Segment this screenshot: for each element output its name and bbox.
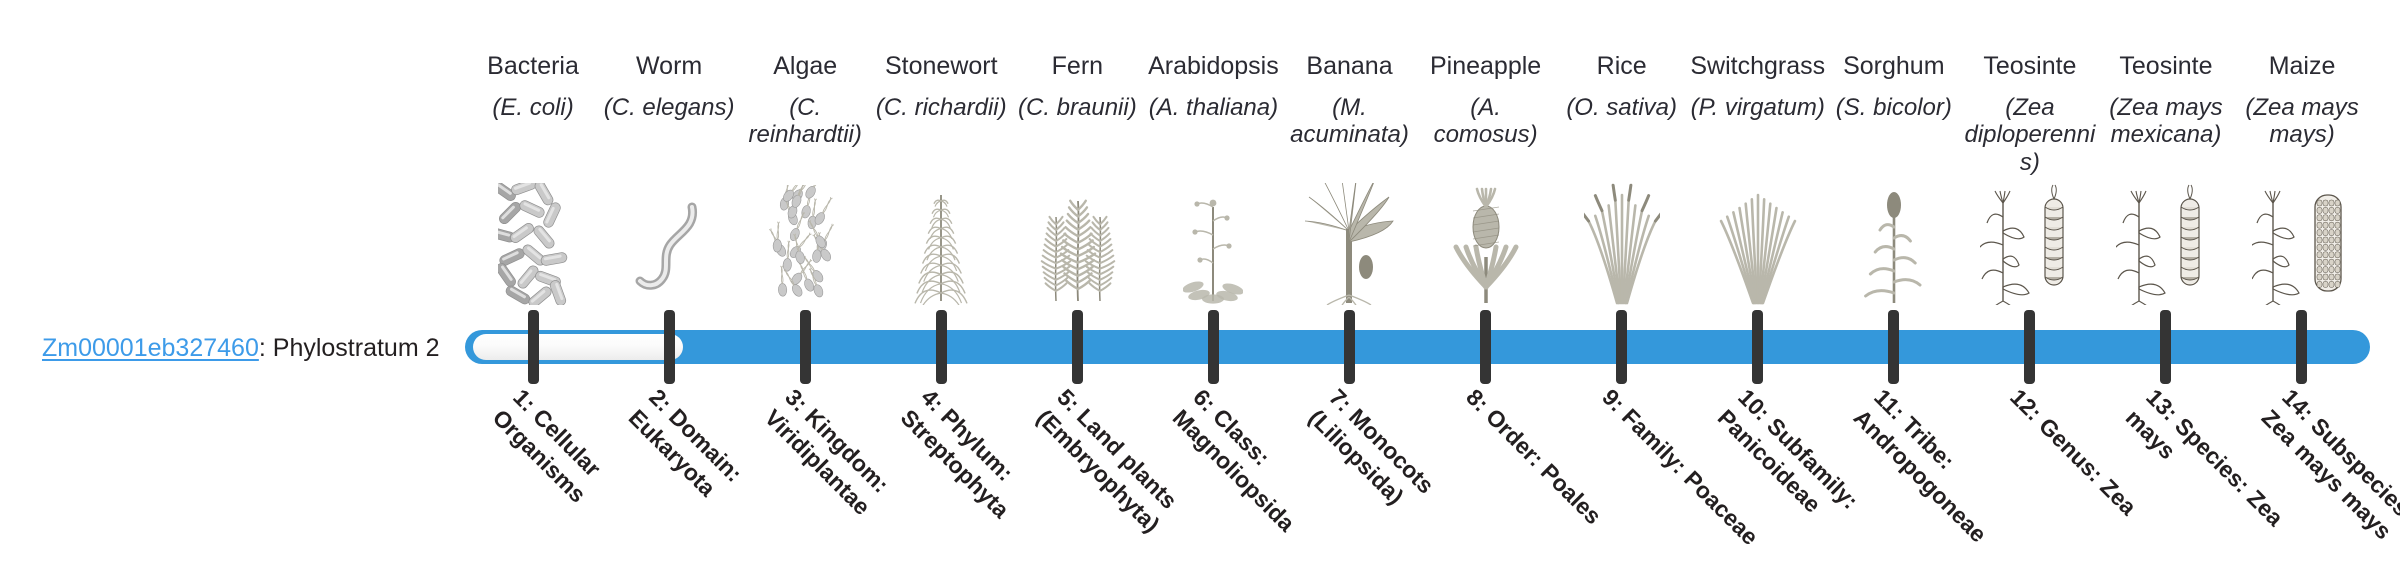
species-column: Fern(C. braunii) xyxy=(1009,52,1145,307)
species-common-name: Teosinte xyxy=(2119,52,2212,80)
gene-id-link[interactable]: Zm00001eb327460 xyxy=(42,334,259,362)
phylostratum-timeline[interactable] xyxy=(465,310,2370,382)
species-column: Switchgrass(P. virgatum) xyxy=(1690,52,1826,307)
phylostratum-tick[interactable] xyxy=(936,310,947,384)
stonewort-icon xyxy=(873,192,1009,307)
teosinte-plant-ear-icon xyxy=(2098,192,2234,307)
species-column: Teosinte(Zea diploperennis) xyxy=(1962,52,2098,307)
bacteria-rods-icon xyxy=(465,192,601,307)
species-column: Teosinte(Zea mays mexicana) xyxy=(2098,52,2234,307)
species-column: Rice(O. sativa) xyxy=(1554,52,1690,307)
species-scientific-name: (S. bicolor) xyxy=(1826,94,1962,121)
species-scientific-name: (C. elegans) xyxy=(601,94,737,121)
progress-fill xyxy=(473,334,683,360)
species-scientific-name: (Zea diploperennis) xyxy=(1962,94,2098,176)
phylostratum-value: Phylostratum 2 xyxy=(273,334,440,362)
switchgrass-icon xyxy=(1690,192,1826,307)
species-scientific-name: (O. sativa) xyxy=(1554,94,1690,121)
species-scientific-name: (P. virgatum) xyxy=(1690,94,1826,121)
teosinte-plant-ear-icon xyxy=(1962,192,2098,307)
species-common-name: Banana xyxy=(1306,52,1392,80)
phylostratum-tick[interactable] xyxy=(1344,310,1355,384)
species-column: Pineapple(A. comosus) xyxy=(1418,52,1554,307)
species-column: Arabidopsis(A. thaliana) xyxy=(1145,52,1281,307)
gene-phylostratum-label: Zm00001eb327460: Phylostratum 2 xyxy=(42,336,440,361)
phylostratum-tick[interactable] xyxy=(2296,310,2307,384)
phylostratum-timeline-figure: Zm00001eb327460: Phylostratum 2 Bacteria… xyxy=(0,0,2400,580)
rank-labels-row: 1: Cellular Organisms2: Domain: Eukaryot… xyxy=(465,384,2370,580)
species-column: Algae(C. reinhardtii) xyxy=(737,52,873,307)
phylostratum-tick[interactable] xyxy=(800,310,811,384)
species-common-name: Rice xyxy=(1597,52,1647,80)
species-scientific-name: (E. coli) xyxy=(465,94,601,121)
maize-plant-ear-icon xyxy=(2234,192,2370,307)
phylostratum-tick[interactable] xyxy=(2160,310,2171,384)
progress-track[interactable] xyxy=(465,330,2370,364)
banana-palm-icon xyxy=(1281,192,1417,307)
species-scientific-name: (M. acuminata) xyxy=(1281,94,1417,149)
phylostratum-tick[interactable] xyxy=(1072,310,1083,384)
algae-cells-icon xyxy=(737,192,873,307)
species-scientific-name: (Zea mays mexicana) xyxy=(2098,94,2234,149)
species-common-name: Stonewort xyxy=(885,52,998,80)
phylostratum-tick[interactable] xyxy=(1616,310,1627,384)
phylostratum-tick[interactable] xyxy=(1888,310,1899,384)
species-column: Maize(Zea mays mays) xyxy=(2234,52,2370,307)
phylostratum-tick[interactable] xyxy=(664,310,675,384)
rice-plant-icon xyxy=(1554,192,1690,307)
species-column: Banana(M. acuminata) xyxy=(1281,52,1417,307)
species-common-name: Worm xyxy=(636,52,702,80)
species-common-name: Teosinte xyxy=(1983,52,2076,80)
arabidopsis-icon xyxy=(1145,192,1281,307)
species-column: Sorghum(S. bicolor) xyxy=(1826,52,1962,307)
species-common-name: Maize xyxy=(2269,52,2336,80)
nematode-worm-icon xyxy=(601,192,737,307)
sorghum-icon xyxy=(1826,192,1962,307)
species-scientific-name: (A. comosus) xyxy=(1418,94,1554,149)
species-common-name: Bacteria xyxy=(487,52,579,80)
species-common-name: Fern xyxy=(1052,52,1103,80)
species-common-name: Arabidopsis xyxy=(1148,52,1279,80)
species-scientific-name: (A. thaliana) xyxy=(1145,94,1281,121)
phylostratum-tick[interactable] xyxy=(1208,310,1219,384)
species-scientific-name: (C. richardii) xyxy=(873,94,1009,121)
phylostratum-tick[interactable] xyxy=(528,310,539,384)
gene-label-separator: : xyxy=(259,334,273,362)
phylostratum-tick[interactable] xyxy=(1480,310,1491,384)
species-common-name: Pineapple xyxy=(1430,52,1541,80)
species-column: Worm(C. elegans) xyxy=(601,52,737,307)
phylostratum-tick[interactable] xyxy=(1752,310,1763,384)
species-column: Stonewort(C. richardii) xyxy=(873,52,1009,307)
species-column: Bacteria(E. coli) xyxy=(465,52,601,307)
species-common-name: Algae xyxy=(773,52,837,80)
species-scientific-name: (C. braunii) xyxy=(1009,94,1145,121)
pineapple-icon xyxy=(1418,192,1554,307)
fern-frond-icon xyxy=(1009,192,1145,307)
species-header-row: Bacteria(E. coli)Worm(C. elegans)Algae(C… xyxy=(465,52,2370,307)
species-common-name: Switchgrass xyxy=(1690,52,1825,80)
species-scientific-name: (C. reinhardtii) xyxy=(737,94,873,149)
species-scientific-name: (Zea mays mays) xyxy=(2234,94,2370,149)
species-common-name: Sorghum xyxy=(1843,52,1944,80)
phylostratum-tick[interactable] xyxy=(2024,310,2035,384)
